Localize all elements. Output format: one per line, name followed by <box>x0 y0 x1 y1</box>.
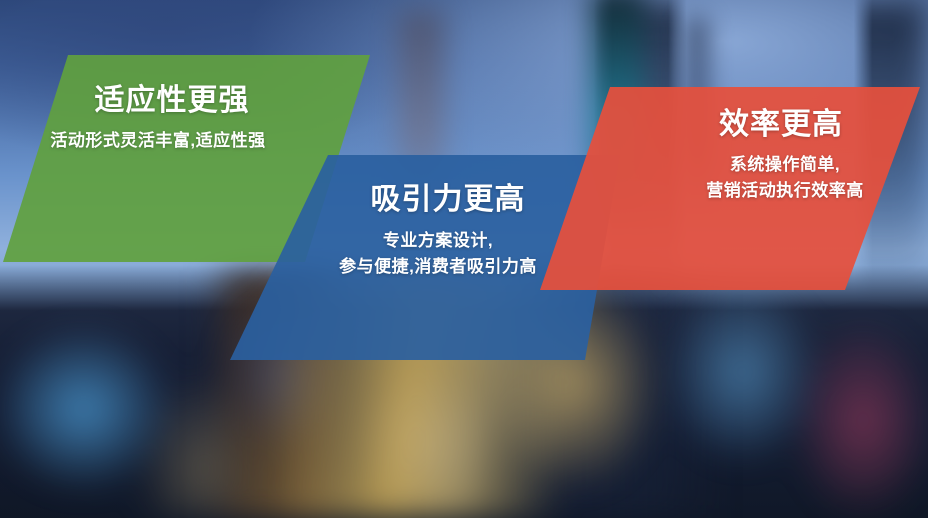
panel-efficiency-subtitle-line-1: 系统操作简单, <box>640 152 928 178</box>
panel-adaptability-title: 适应性更强 <box>22 86 322 116</box>
panel-adaptability-title-wrap: 适应性更强 <box>22 86 322 116</box>
panel-efficiency-subtitle-line-2: 营销活动执行效率高 <box>640 178 928 204</box>
panel-efficiency-title-wrap: 效率更高 <box>636 110 926 140</box>
panel-efficiency-subtitle-wrap: 系统操作简单, 营销活动执行效率高 <box>640 152 928 205</box>
slide-canvas: 适应性更强 活动形式灵活丰富,适应性强 吸引力更高 专业方案设计, 参与便捷,消… <box>0 0 928 518</box>
panel-efficiency-title: 效率更高 <box>636 110 926 140</box>
panel-efficiency[interactable]: 效率更高 系统操作简单, 营销活动执行效率高 <box>520 70 928 310</box>
